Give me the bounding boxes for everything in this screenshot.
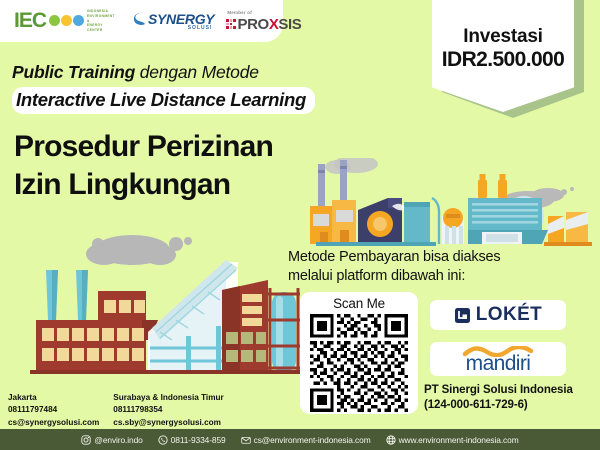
logo-proxsis: Member of PROXSIS bbox=[226, 10, 301, 33]
poster-canvas: IEC INDONESIA ENVIRONMENT & ENERGY CENTE… bbox=[0, 0, 600, 450]
beneficiary-number: (124-000-611-729-6) bbox=[424, 398, 573, 413]
kicker-bold: Public Training bbox=[12, 62, 135, 82]
synergy-swoosh-icon bbox=[133, 11, 146, 26]
proxsis-dots-icon bbox=[226, 19, 235, 28]
synergy-subtitle: SOLUSI bbox=[188, 26, 213, 31]
contact-phone[interactable]: 08111797484 bbox=[8, 404, 99, 416]
headline-kicker: Public Training dengan Metode Interactiv… bbox=[12, 62, 315, 114]
payment-logo-loket[interactable]: LOKÉT bbox=[430, 300, 566, 330]
contact-email[interactable]: cs@synergysolusi.com bbox=[8, 417, 99, 429]
globe-icon bbox=[386, 435, 396, 445]
proxsis-name-post: SIS bbox=[278, 16, 301, 33]
qr-code-image[interactable] bbox=[309, 314, 409, 412]
page-title: Prosedur Perizinan Izin Lingkungan bbox=[14, 128, 273, 205]
regional-contacts: Jakarta 08111797484 cs@synergysolusi.com… bbox=[8, 392, 224, 429]
payment-intro-line-1: Metode Pembayaran bisa diakses bbox=[288, 248, 588, 267]
synergy-name: SYNERGY bbox=[148, 12, 214, 26]
contact-city-label: Surabaya & Indonesia Timur bbox=[113, 392, 223, 404]
qr-card[interactable]: Scan Me bbox=[300, 292, 418, 414]
loket-mark-icon bbox=[454, 307, 471, 324]
contact-email[interactable]: cs.sby@synergysolusi.com bbox=[113, 417, 223, 429]
investment-ribbon: Investasi IDR2.500.000 bbox=[432, 0, 584, 118]
title-line-1: Prosedur Perizinan bbox=[14, 128, 273, 166]
kicker-rest: dengan Metode bbox=[135, 62, 259, 82]
investment-label: Investasi bbox=[463, 26, 543, 48]
contact-phone[interactable]: 08111798354 bbox=[113, 404, 223, 416]
instagram-icon bbox=[81, 435, 91, 445]
website-url: www.environment-indonesia.com bbox=[399, 435, 519, 445]
title-line-2: Izin Lingkungan bbox=[14, 166, 273, 204]
payment-intro: Metode Pembayaran bisa diakses melalui p… bbox=[288, 248, 588, 287]
footer-whatsapp[interactable]: 0811-9334-859 bbox=[158, 435, 226, 445]
qr-scan-label: Scan Me bbox=[333, 296, 385, 312]
footer-bar: @enviro.indo 0811-9334-859 cs@environmen… bbox=[0, 429, 600, 450]
beneficiary-account: PT Sinergi Solusi Indonesia (124-000-611… bbox=[424, 383, 573, 414]
beneficiary-company: PT Sinergi Solusi Indonesia bbox=[424, 383, 573, 398]
iec-subtitle: INDONESIA ENVIRONMENT & ENERGY CENTER bbox=[87, 9, 115, 32]
phone-icon bbox=[158, 435, 168, 445]
proxsis-name-pre: PRO bbox=[238, 16, 269, 33]
kicker-highlight-chip: Interactive Live Distance Learning bbox=[12, 87, 315, 114]
investment-amount: IDR2.500.000 bbox=[442, 48, 564, 72]
payment-logo-mandiri[interactable]: mandiri bbox=[430, 342, 566, 376]
contact-city-label: Jakarta bbox=[8, 392, 99, 404]
envelope-icon bbox=[241, 435, 251, 445]
contact-surabaya: Surabaya & Indonesia Timur 08111798354 c… bbox=[113, 392, 223, 429]
iec-leaf-dots-icon bbox=[49, 15, 84, 26]
contact-jakarta: Jakarta 08111797484 cs@synergysolusi.com bbox=[8, 392, 99, 429]
whatsapp-number: 0811-9334-859 bbox=[171, 435, 226, 445]
industry-illustration-right bbox=[296, 158, 596, 255]
iec-sub-line-2: ENVIRONMENT & bbox=[87, 14, 115, 23]
loket-label: LOKÉT bbox=[476, 304, 542, 326]
payment-intro-line-2: melalui platform dibawah ini: bbox=[288, 267, 588, 286]
footer-instagram[interactable]: @enviro.indo bbox=[81, 435, 142, 445]
instagram-handle: @enviro.indo bbox=[94, 435, 142, 445]
proxsis-member-of-label: Member of bbox=[227, 10, 301, 15]
logo-iec: IEC INDONESIA ENVIRONMENT & ENERGY CENTE… bbox=[14, 9, 115, 32]
mandiri-label: mandiri bbox=[466, 353, 531, 374]
industry-illustration-left bbox=[0, 228, 300, 391]
footer-website[interactable]: www.environment-indonesia.com bbox=[386, 435, 519, 445]
kicker-line-1: Public Training dengan Metode bbox=[12, 62, 315, 84]
footer-email[interactable]: cs@environment-indonesia.com bbox=[241, 435, 371, 445]
proxsis-name: PROXSIS bbox=[238, 16, 302, 33]
iec-sub-line-3: ENERGY CENTER bbox=[87, 23, 115, 32]
kicker-highlight: Interactive Live Distance Learning bbox=[16, 88, 306, 112]
email-address: cs@environment-indonesia.com bbox=[254, 435, 371, 445]
proxsis-name-x: X bbox=[269, 16, 279, 33]
brand-header-bar: IEC INDONESIA ENVIRONMENT & ENERGY CENTE… bbox=[0, 0, 283, 42]
iec-abbr: IEC bbox=[14, 10, 46, 31]
logo-synergy: SYNERGY SOLUSI bbox=[133, 11, 214, 31]
